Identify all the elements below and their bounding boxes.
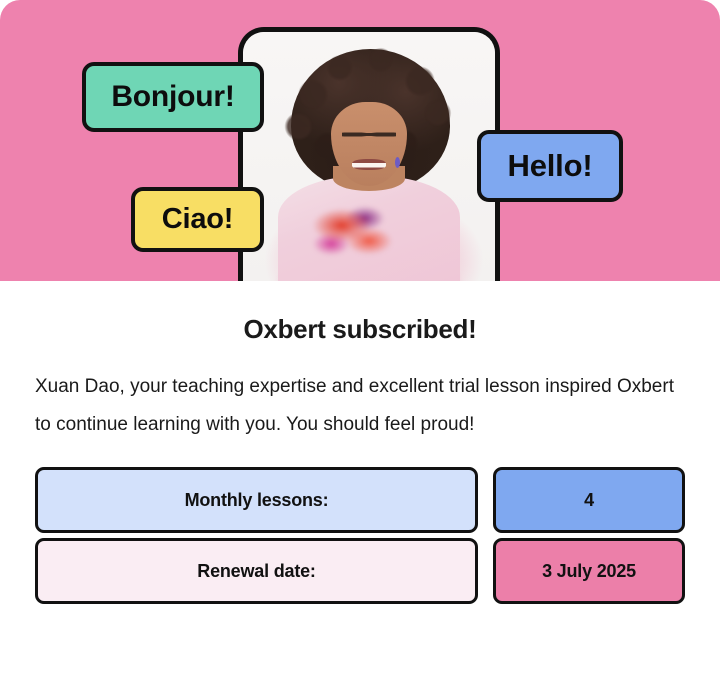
detail-value-monthly-lessons: 4	[493, 467, 685, 533]
detail-label-monthly-lessons: Monthly lessons:	[35, 467, 478, 533]
tutor-photo	[243, 32, 495, 281]
speech-bubble-bonjour: Bonjour!	[82, 62, 264, 132]
card-body: Oxbert subscribed! Xuan Dao, your teachi…	[0, 281, 720, 604]
page-title: Oxbert subscribed!	[35, 281, 685, 345]
body-paragraph: Xuan Dao, your teaching expertise and ex…	[35, 368, 685, 444]
detail-value-renewal-date: 3 July 2025	[493, 538, 685, 604]
speech-bubble-ciao: Ciao!	[131, 187, 264, 252]
notification-card: Bonjour! Ciao! Hello! Oxbert subscribed!…	[0, 0, 720, 686]
phone-frame	[238, 27, 500, 281]
speech-bubble-hello: Hello!	[477, 130, 623, 202]
hero-banner: Bonjour! Ciao! Hello!	[0, 0, 720, 281]
table-row: Renewal date: 3 July 2025	[35, 538, 685, 604]
details-table: Monthly lessons: 4 Renewal date: 3 July …	[35, 467, 685, 604]
detail-label-renewal-date: Renewal date:	[35, 538, 478, 604]
photo-torso	[278, 176, 459, 281]
table-row: Monthly lessons: 4	[35, 467, 685, 533]
